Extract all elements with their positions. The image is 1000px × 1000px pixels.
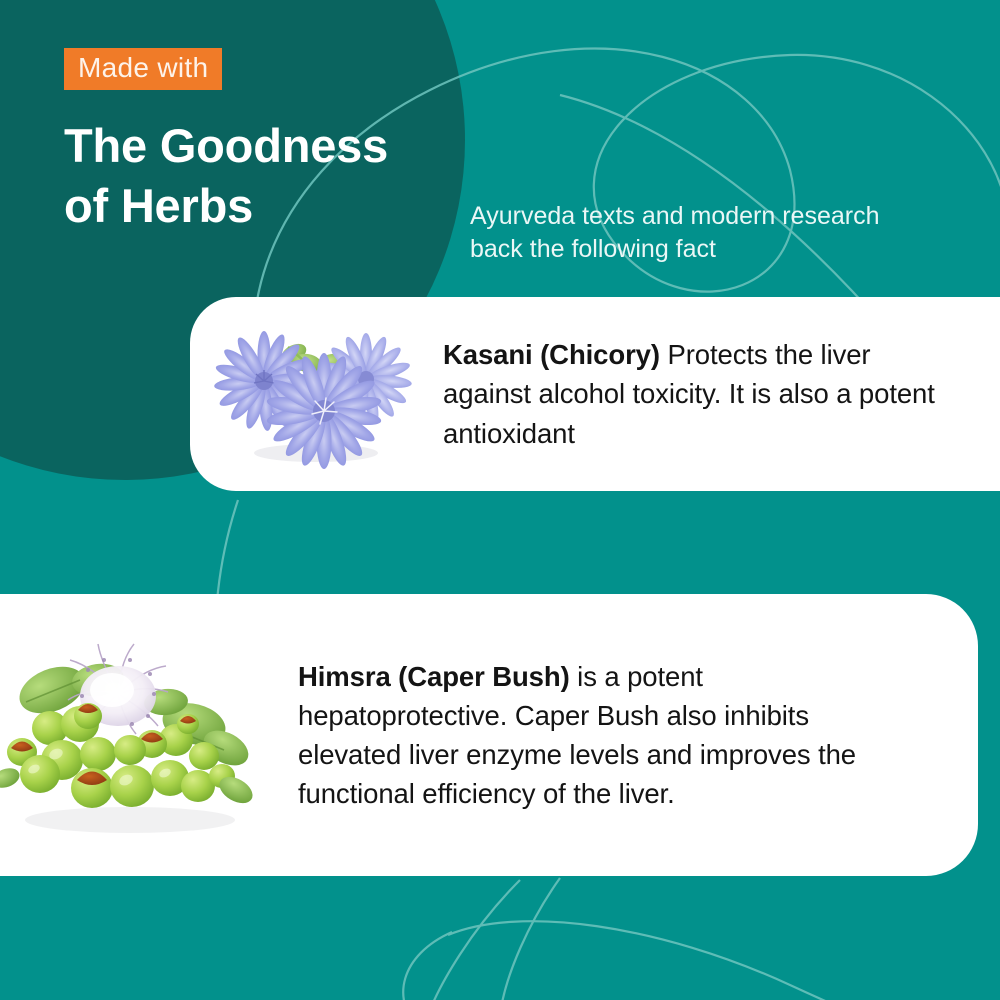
subtitle-line-2: back the following fact: [470, 233, 970, 266]
herb-card-himsra: Himsra (Caper Bush) is a potent hepatopr…: [0, 594, 978, 876]
made-with-badge: Made with: [64, 48, 222, 90]
subtitle-text: Ayurveda texts and modern research back …: [470, 200, 970, 266]
page-title-line-2: of Herbs: [64, 176, 484, 236]
caper-bush-image: [0, 628, 280, 843]
page-title-line-1: The Goodness: [64, 116, 484, 176]
chicory-flower-image: [208, 319, 413, 469]
page-title: The Goodness of Herbs: [64, 116, 484, 235]
herb-name-himsra: Himsra (Caper Bush): [298, 661, 570, 692]
herb-benefits-poster: Made with The Goodness of Herbs Ayurveda…: [0, 0, 1000, 1000]
herb-name-kasani: Kasani (Chicory): [443, 339, 660, 370]
header-block: Made with The Goodness of Herbs: [64, 48, 484, 235]
herb-card-kasani-text: Kasani (Chicory) Protects the liver agai…: [443, 335, 963, 452]
subtitle-line-1: Ayurveda texts and modern research: [470, 200, 970, 233]
herb-card-himsra-text: Himsra (Caper Bush) is a potent hepatopr…: [298, 657, 878, 813]
herb-card-kasani: Kasani (Chicory) Protects the liver agai…: [190, 297, 1000, 491]
